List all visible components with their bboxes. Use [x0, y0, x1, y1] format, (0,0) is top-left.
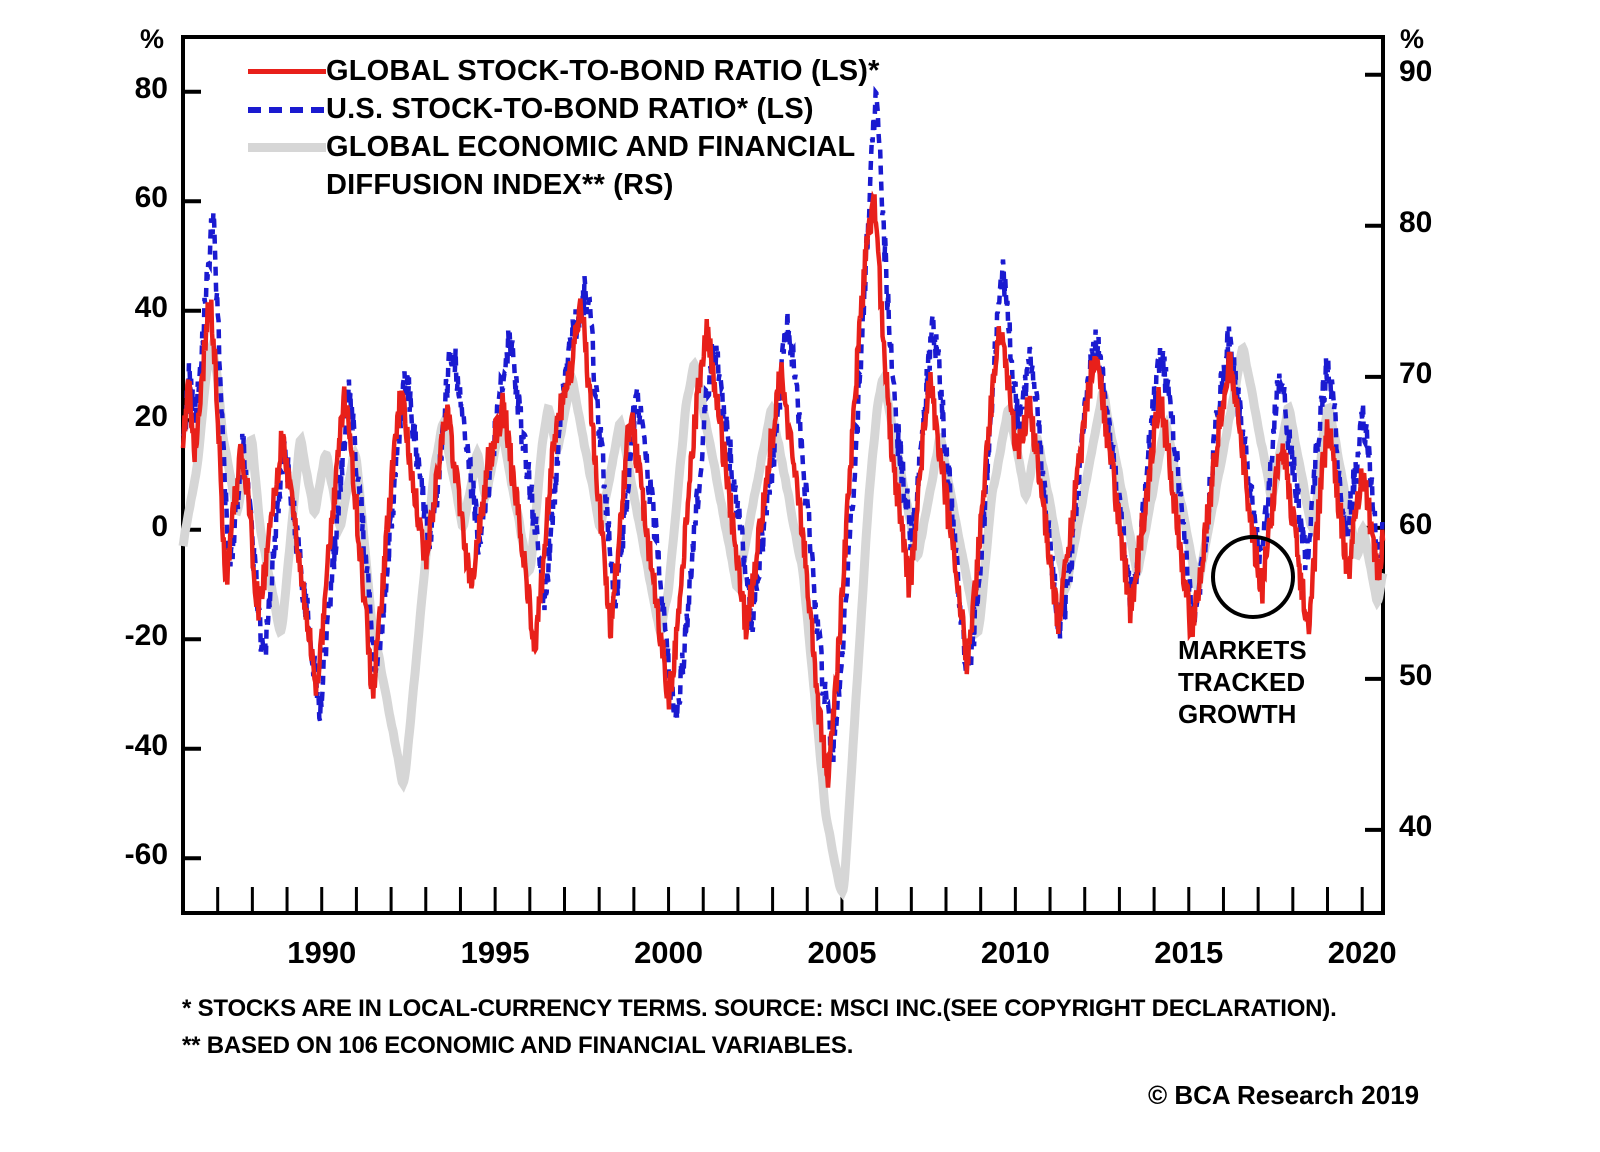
legend-swatch-gray-thick: [248, 128, 326, 166]
legend-label-us-stock-to-bond: U.S. STOCK-TO-BOND RATIO* (LS): [326, 90, 814, 128]
legend-swatch-blue-dashed: [248, 90, 326, 128]
footnote-2: ** BASED ON 106 ECONOMIC AND FINANCIAL V…: [182, 1032, 853, 1060]
chart-figure: % % 806040200-20-40-60 908070605040 1990…: [0, 0, 1600, 1152]
legend-label-global-stock-to-bond: GLOBAL STOCK-TO-BOND RATIO (LS)*: [326, 52, 880, 90]
footnote-1: * STOCKS ARE IN LOCAL-CURRENCY TERMS. SO…: [182, 995, 1337, 1023]
annotation-line-2: TRACKED: [1178, 666, 1307, 698]
legend-swatch-red-solid: [248, 52, 326, 90]
legend-item-global-stock-to-bond: GLOBAL STOCK-TO-BOND RATIO (LS)*: [248, 52, 880, 90]
legend-item-diffusion-index: GLOBAL ECONOMIC AND FINANCIAL: [248, 128, 880, 166]
legend-label-diffusion-index: GLOBAL ECONOMIC AND FINANCIAL: [326, 128, 855, 166]
legend: GLOBAL STOCK-TO-BOND RATIO (LS)* U.S. ST…: [248, 52, 880, 204]
legend-item-us-stock-to-bond: U.S. STOCK-TO-BOND RATIO* (LS): [248, 90, 880, 128]
annotation-line-1: MARKETS: [1178, 634, 1307, 666]
annotation-markets-tracked-growth: MARKETS TRACKED GROWTH: [1178, 634, 1307, 730]
series-global-diffusion-index: [183, 347, 1383, 891]
legend-label-diffusion-index-line2: DIFFUSION INDEX** (RS): [326, 166, 880, 204]
annotation-line-3: GROWTH: [1178, 698, 1307, 730]
copyright-notice: © BCA Research 2019: [1148, 1080, 1419, 1111]
